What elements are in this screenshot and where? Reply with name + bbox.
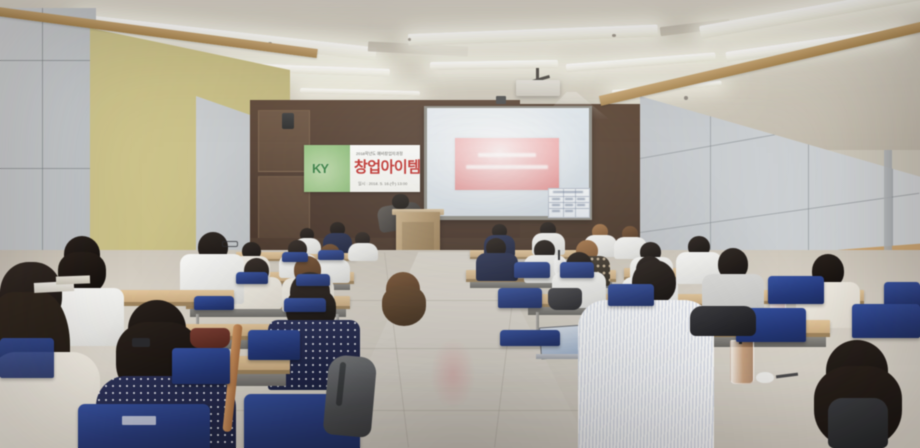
chair[interactable]	[514, 262, 550, 278]
projection-screen-glow	[427, 108, 589, 216]
backpack	[828, 398, 888, 448]
banner-subtitle: 2018학년도 예비창업자과정	[356, 150, 420, 157]
chair[interactable]	[0, 338, 54, 378]
audience-torso	[348, 243, 378, 261]
chair[interactable]	[284, 298, 326, 312]
banner-title: 창업아이템	[354, 158, 420, 178]
chair[interactable]	[236, 272, 268, 284]
jacket-on-chair	[690, 306, 756, 336]
audience-torso	[476, 253, 518, 281]
wall-speaker-icon	[496, 96, 506, 104]
chair[interactable]	[296, 274, 330, 286]
chair[interactable]	[608, 284, 654, 306]
straw	[558, 250, 560, 260]
mouse-icon	[756, 372, 774, 383]
chair[interactable]	[500, 330, 560, 346]
event-banner: KY 2018학년도 예비창업자과정 창업아이템 일시 : 2018. 5. 1…	[304, 145, 420, 192]
wall-speaker-icon	[282, 113, 294, 129]
chair[interactable]	[282, 252, 308, 262]
presenter-head	[392, 194, 409, 209]
chair[interactable]	[194, 296, 234, 310]
banner-logo: KY	[312, 161, 350, 177]
phone	[132, 338, 150, 347]
chair[interactable]	[768, 276, 824, 304]
ceiling-sensor	[684, 96, 688, 100]
notebook	[56, 275, 90, 284]
ceiling-sensor	[612, 34, 616, 37]
chair[interactable]	[172, 348, 230, 384]
ceiling-sensor	[408, 38, 411, 41]
eyeglasses-icon	[222, 241, 238, 247]
backpack	[323, 354, 378, 438]
ceiling-projector	[516, 80, 560, 96]
chair[interactable]	[78, 404, 210, 448]
iced-coffee-cup	[730, 340, 754, 384]
banner-date: 일시 : 2018. 5. 16.(수) 13:00	[358, 180, 418, 187]
handbag	[548, 288, 582, 310]
chair-label	[122, 416, 156, 425]
chair[interactable]	[318, 250, 344, 260]
chair[interactable]	[248, 330, 300, 360]
audience-hair-long	[382, 286, 426, 326]
chair[interactable]	[498, 288, 542, 308]
lecture-room-photo: KY 2018학년도 예비창업자과정 창업아이템 일시 : 2018. 5. 1…	[0, 0, 920, 448]
chair[interactable]	[560, 262, 594, 278]
chair[interactable]	[852, 304, 920, 338]
handbag	[190, 328, 230, 348]
